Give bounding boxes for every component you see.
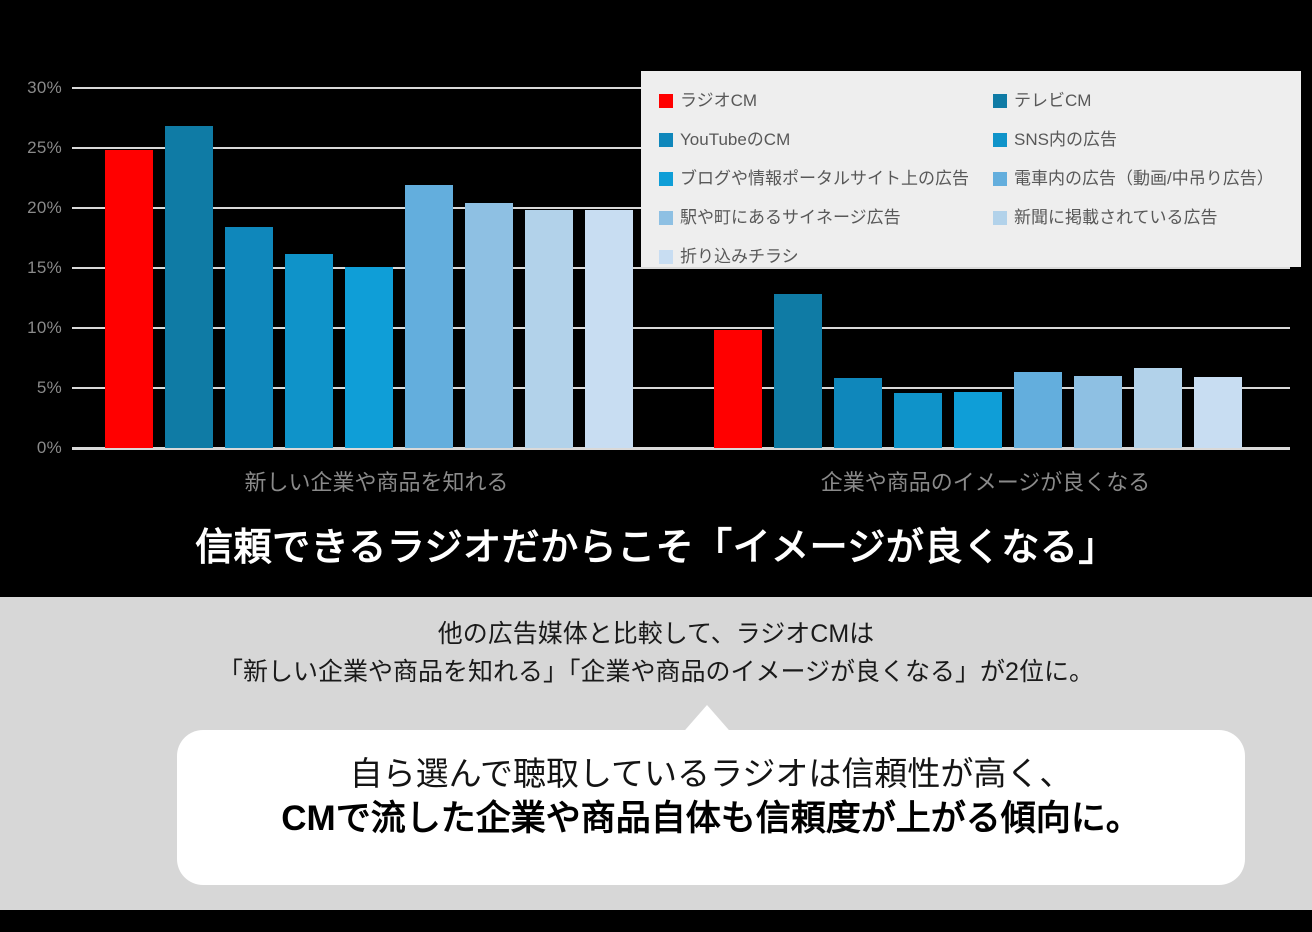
speech-bubble: 自ら選んで聴取しているラジオは信頼性が高く、 CMで流した企業や商品自体も信頼度… xyxy=(177,730,1245,885)
legend-item-label: 折り込みチラシ xyxy=(680,247,799,267)
chart-bar xyxy=(465,203,513,448)
legend-item-label: テレビCM xyxy=(1014,91,1091,111)
legend-item-label: YouTubeのCM xyxy=(680,130,790,150)
infographic-page: 0%5%10%15%20%25%30% 新しい企業や商品を知れる企業や商品のイメ… xyxy=(0,0,1312,932)
chart-bar xyxy=(405,185,453,448)
chart-bar xyxy=(954,392,1002,448)
chart-bar xyxy=(774,294,822,448)
legend-color-swatch-icon xyxy=(993,94,1007,108)
legend-item-label: ラジオCM xyxy=(680,91,757,111)
y-axis-tick-label: 10% xyxy=(8,319,62,336)
bubble-line-2: CMで流した企業や商品自体も信頼度が上がる傾向に。 xyxy=(177,798,1245,840)
legend-item[interactable]: 新聞に掲載されている広告 xyxy=(993,198,1293,237)
bottom-bar xyxy=(0,910,1312,932)
legend-item[interactable]: 折り込みチラシ xyxy=(659,237,999,276)
panel-lead-text: 他の広告媒体と比較して、ラジオCMは 「新しい企業や商品を知れる」「企業や商品の… xyxy=(0,615,1312,691)
chart-bar xyxy=(1014,372,1062,448)
legend-column-left: ラジオCMYouTubeのCMブログや情報ポータルサイト上の広告駅や町にあるサイ… xyxy=(659,81,999,276)
chart-bar xyxy=(585,210,633,448)
panel-lead-line-2: 「新しい企業や商品を知れる」「企業や商品のイメージが良くなる」が2位に。 xyxy=(0,653,1312,691)
chart-bar xyxy=(834,378,882,448)
y-axis-tick-label: 0% xyxy=(8,439,62,456)
chart-bar xyxy=(894,393,942,448)
legend-color-swatch-icon xyxy=(659,172,673,186)
legend-item-label: SNS内の広告 xyxy=(1014,130,1117,150)
legend-column-right: テレビCMSNS内の広告電車内の広告（動画/中吊り広告）新聞に掲載されている広告 xyxy=(993,81,1293,237)
legend-item[interactable]: ブログや情報ポータルサイト上の広告 xyxy=(659,159,999,198)
chart-bar xyxy=(1194,377,1242,448)
legend-item[interactable]: YouTubeのCM xyxy=(659,120,999,159)
chart-bar xyxy=(1074,376,1122,448)
panel-lead-line-1: 他の広告媒体と比較して、ラジオCMは xyxy=(0,615,1312,653)
chart-legend: ラジオCMYouTubeのCMブログや情報ポータルサイト上の広告駅や町にあるサイ… xyxy=(641,71,1301,267)
y-axis-tick-label: 25% xyxy=(8,139,62,156)
legend-color-swatch-icon xyxy=(993,172,1007,186)
legend-item[interactable]: 駅や町にあるサイネージ広告 xyxy=(659,198,999,237)
y-axis-tick-label: 5% xyxy=(8,379,62,396)
chart-bar xyxy=(105,150,153,448)
chart-bar xyxy=(1134,368,1182,448)
legend-item-label: 新聞に掲載されている広告 xyxy=(1014,208,1218,228)
headline: 信頼できるラジオだからこそ「イメージが良くなる」 xyxy=(0,525,1312,571)
chart-bar xyxy=(345,267,393,448)
y-axis-tick-label: 30% xyxy=(8,79,62,96)
chart-bar xyxy=(225,227,273,448)
chart-bar xyxy=(525,210,573,448)
legend-item[interactable]: テレビCM xyxy=(993,81,1293,120)
y-axis-tick-label: 20% xyxy=(8,199,62,216)
legend-color-swatch-icon xyxy=(993,211,1007,225)
x-axis-category-label: 企業や商品のイメージが良くなる xyxy=(681,470,1290,496)
summary-panel: 他の広告媒体と比較して、ラジオCMは 「新しい企業や商品を知れる」「企業や商品の… xyxy=(0,597,1312,910)
chart-bar xyxy=(285,254,333,448)
x-axis-category-label: 新しい企業や商品を知れる xyxy=(72,470,681,496)
legend-item[interactable]: ラジオCM xyxy=(659,81,999,120)
legend-color-swatch-icon xyxy=(659,133,673,147)
chart-bar xyxy=(165,126,213,448)
legend-item[interactable]: 電車内の広告（動画/中吊り広告） xyxy=(993,159,1293,198)
legend-item-label: ブログや情報ポータルサイト上の広告 xyxy=(680,169,969,189)
legend-color-swatch-icon xyxy=(659,94,673,108)
legend-item-label: 電車内の広告（動画/中吊り広告） xyxy=(1014,169,1274,189)
legend-color-swatch-icon xyxy=(659,250,673,264)
legend-color-swatch-icon xyxy=(659,211,673,225)
chart-bar xyxy=(714,330,762,448)
y-axis: 0%5%10%15%20%25%30% xyxy=(0,0,62,597)
legend-item[interactable]: SNS内の広告 xyxy=(993,120,1293,159)
bubble-line-1: 自ら選んで聴取しているラジオは信頼性が高く、 xyxy=(177,754,1245,794)
legend-color-swatch-icon xyxy=(993,133,1007,147)
y-axis-tick-label: 15% xyxy=(8,259,62,276)
legend-item-label: 駅や町にあるサイネージ広告 xyxy=(680,208,901,228)
